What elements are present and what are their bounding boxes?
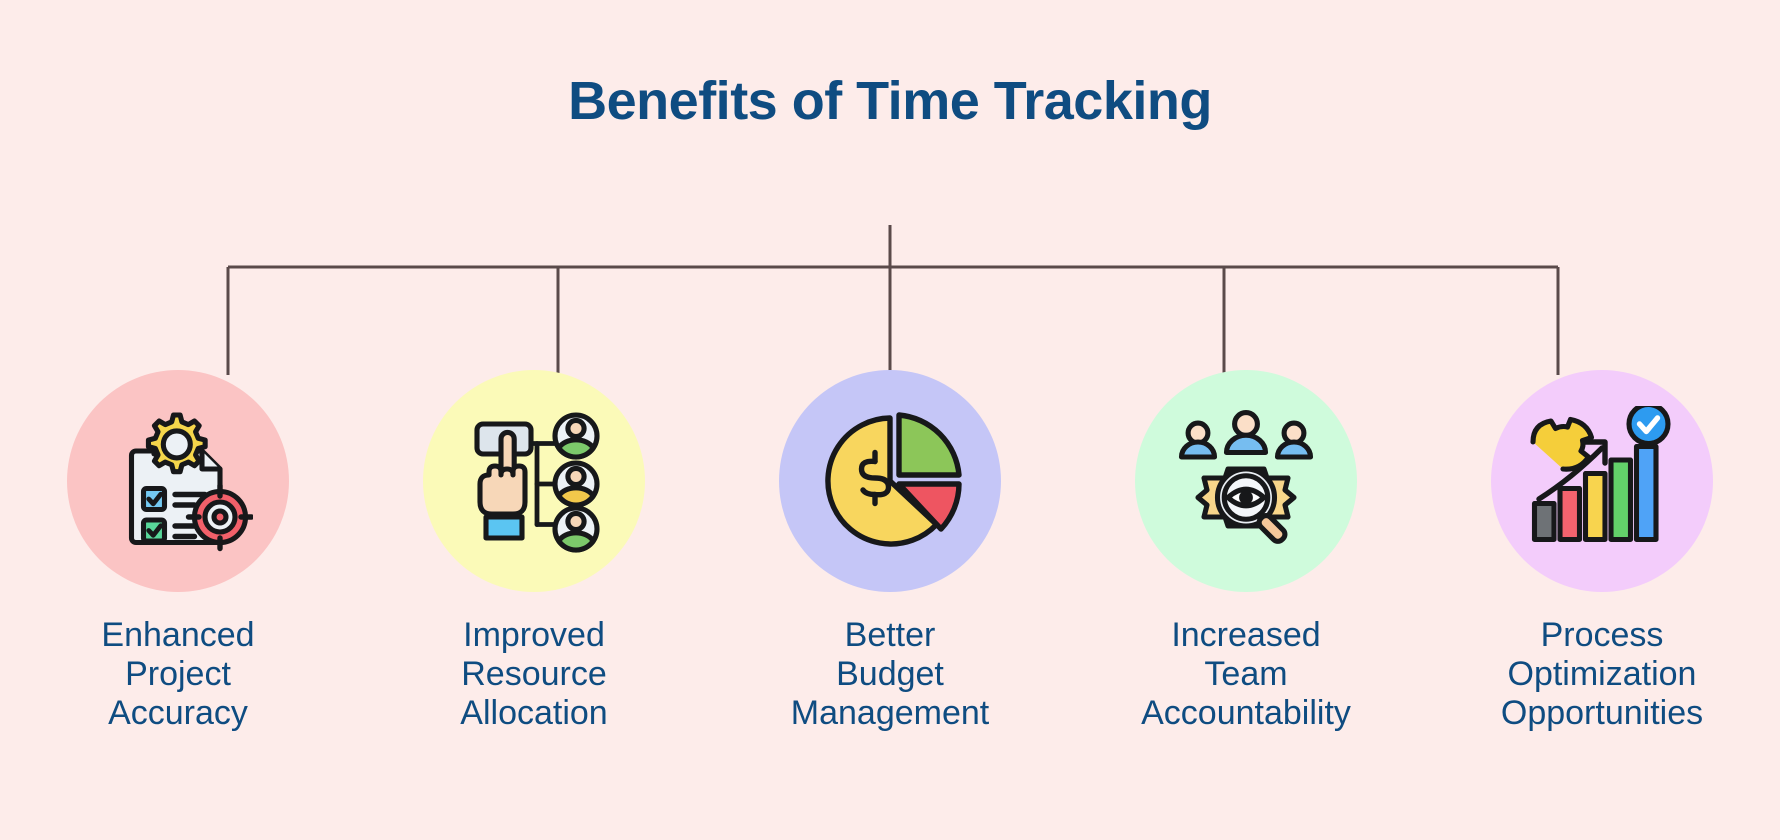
icon-bubble-2 <box>423 370 645 592</box>
page-title: Benefits of Time Tracking <box>0 70 1780 132</box>
icon-bubble-1 <box>67 370 289 592</box>
team-gear-magnifier-eye-icon <box>1171 406 1321 556</box>
pie-chart-dollar-icon <box>815 406 965 556</box>
benefit-node-increased-team-accountability[interactable]: Increased Team Accountability <box>1068 370 1424 732</box>
bar-chart-growth-check-icon <box>1527 406 1677 556</box>
connector-lines <box>0 225 1780 375</box>
clipboard-gear-target-icon <box>103 406 253 556</box>
benefit-label-3: Better Budget Management <box>791 616 989 732</box>
icon-bubble-3 <box>779 370 1001 592</box>
benefit-node-process-optimization-opportunities[interactable]: Process Optimization Opportunities <box>1424 370 1780 732</box>
benefit-node-list: Enhanced Project Accuracy <box>0 370 1780 732</box>
benefit-label-1: Enhanced Project Accuracy <box>101 616 254 732</box>
icon-bubble-4 <box>1135 370 1357 592</box>
benefit-label-5: Process Optimization Opportunities <box>1501 616 1703 732</box>
benefit-node-improved-resource-allocation[interactable]: Improved Resource Allocation <box>356 370 712 732</box>
benefit-label-4: Increased Team Accountability <box>1141 616 1351 732</box>
benefit-node-enhanced-project-accuracy[interactable]: Enhanced Project Accuracy <box>0 370 356 732</box>
benefit-label-2: Improved Resource Allocation <box>460 616 607 732</box>
icon-bubble-5 <box>1491 370 1713 592</box>
hand-org-chart-users-icon <box>459 406 609 556</box>
benefit-node-better-budget-management[interactable]: Better Budget Management <box>712 370 1068 732</box>
